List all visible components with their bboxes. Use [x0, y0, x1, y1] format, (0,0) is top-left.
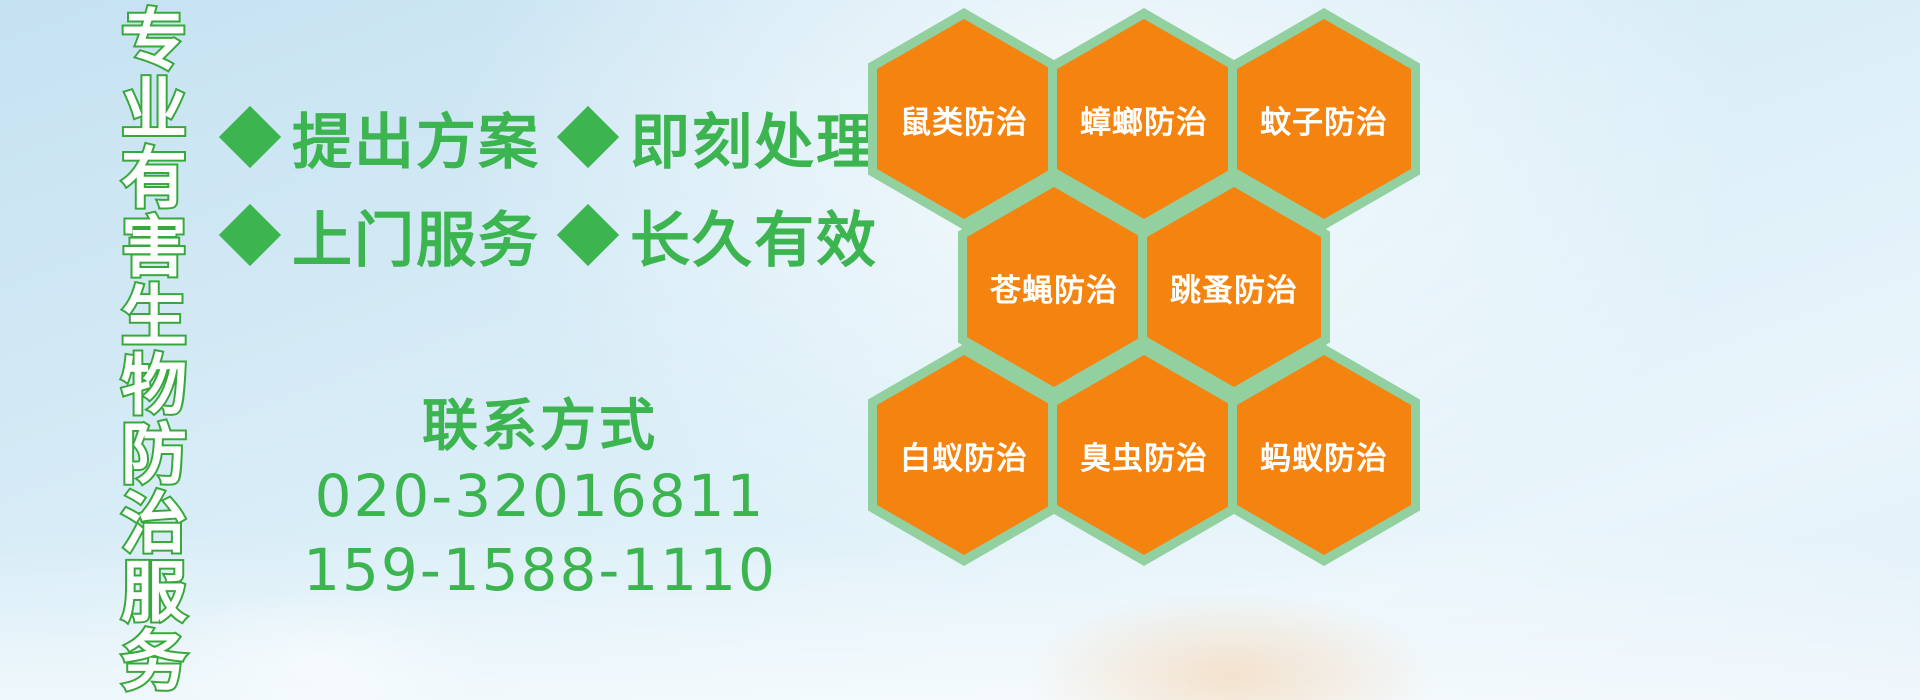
hex-cell-ant-control[interactable]: 蚂蚁防治: [1228, 344, 1420, 566]
feature-item-immediate-handling: 即刻处理: [566, 94, 878, 181]
vertical-slogan-char: 有: [121, 146, 187, 212]
feature-row: 上门服务 长久有效: [228, 186, 868, 284]
feature-label: 长久有效: [630, 192, 878, 279]
vertical-slogan-char: 防: [121, 422, 187, 488]
feature-label: 上门服务: [292, 192, 540, 279]
vertical-slogan: 专 业 有 害 生 物 防 治 服 务: [106, 8, 202, 698]
feature-label: 即刻处理: [630, 94, 878, 181]
diamond-bullet-icon: [219, 106, 281, 168]
hex-label: 蚊子防治: [1260, 97, 1388, 142]
hex-label: 臭虫防治: [1080, 433, 1208, 478]
vertical-slogan-char: 专: [121, 8, 187, 74]
diamond-bullet-icon: [557, 204, 619, 266]
hex-label: 跳蚤防治: [1170, 265, 1298, 310]
feature-list: 提出方案 即刻处理 上门服务 长久有效: [228, 88, 868, 284]
diamond-bullet-icon: [557, 106, 619, 168]
hex-label: 白蚁防治: [900, 433, 1028, 478]
vertical-slogan-char: 物: [121, 353, 187, 419]
hex-label: 蚂蚁防治: [1260, 433, 1388, 478]
vertical-slogan-char: 业: [121, 77, 187, 143]
feature-item-long-lasting: 长久有效: [566, 192, 878, 279]
contact-phone-landline[interactable]: 020-32016811: [240, 459, 840, 533]
hex-label: 蟑螂防治: [1080, 97, 1208, 142]
service-honeycomb: 鼠类防治 蟑螂防治 蚊子防治 苍蝇防治 跳蚤防治 白蚁防治: [862, 0, 1462, 590]
vertical-slogan-char: 务: [121, 629, 187, 695]
hex-label: 鼠类防治: [900, 97, 1028, 142]
vertical-slogan-char: 治: [121, 491, 187, 557]
feature-label: 提出方案: [292, 94, 540, 181]
vertical-slogan-char: 服: [121, 560, 187, 626]
hex-cell-bedbug-control[interactable]: 臭虫防治: [1048, 344, 1240, 566]
contact-block: 联系方式 020-32016811 159-1588-1110: [240, 395, 840, 607]
diamond-bullet-icon: [219, 204, 281, 266]
background-blob-right: [1020, 590, 1440, 700]
contact-phone-mobile[interactable]: 159-1588-1110: [240, 533, 840, 607]
feature-item-onsite-service: 上门服务: [228, 192, 540, 279]
vertical-slogan-char: 生: [121, 284, 187, 350]
hex-cell-termite-control[interactable]: 白蚁防治: [868, 344, 1060, 566]
feature-row: 提出方案 即刻处理: [228, 88, 868, 186]
contact-heading: 联系方式: [240, 395, 840, 459]
hex-label: 苍蝇防治: [990, 265, 1118, 310]
feature-item-propose-plan: 提出方案: [228, 94, 540, 181]
promo-banner: 专 业 有 害 生 物 防 治 服 务 提出方案 即刻处理 上门服务: [0, 0, 1920, 700]
vertical-slogan-char: 害: [121, 215, 187, 281]
